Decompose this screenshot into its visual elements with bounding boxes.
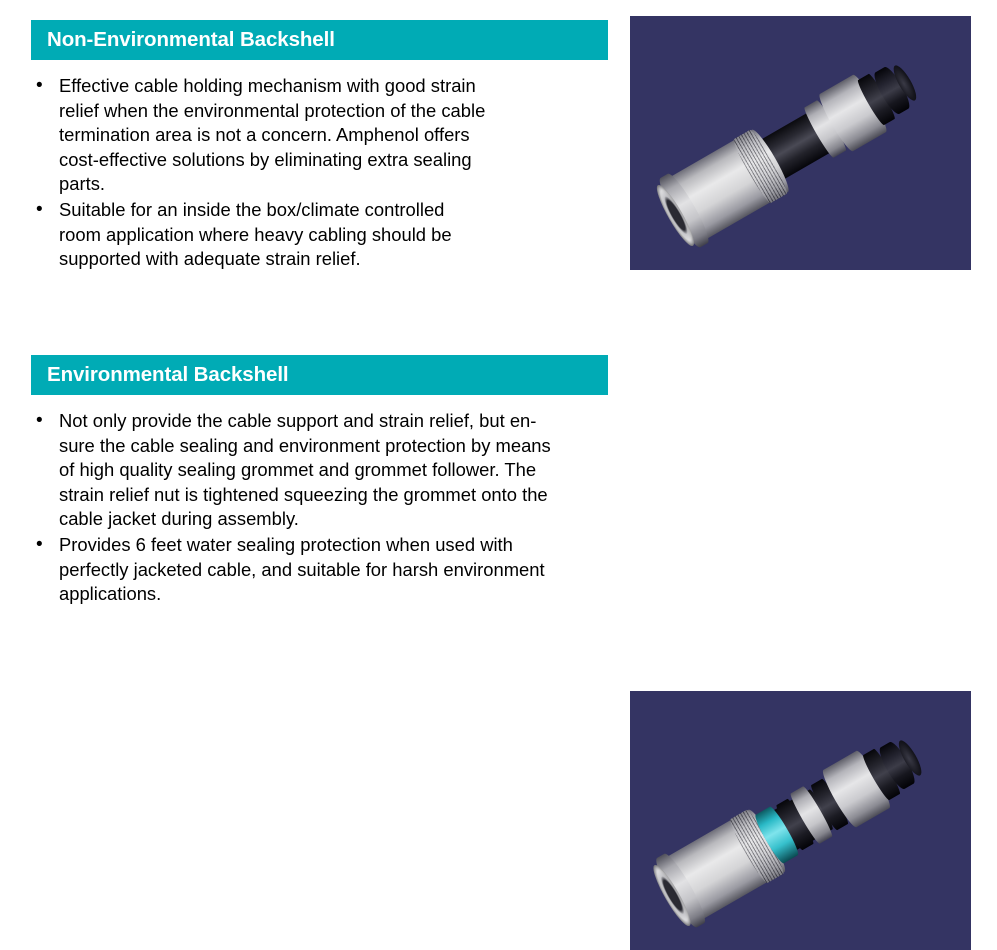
bullet-text: Not only provide the cable support and s…	[59, 409, 631, 532]
bullet-text: Suitable for an inside the box/climate c…	[59, 198, 631, 272]
product-feature-page: Non-Environmental Backshell • Effective …	[0, 0, 997, 652]
connector-assembly-illustration	[645, 700, 957, 940]
section-title-environmental: Environmental Backshell	[31, 365, 289, 386]
bullet-dot-icon: •	[36, 533, 50, 558]
bullet-dot-icon: •	[36, 198, 50, 223]
list-item: • Effective cable holding mechanism with…	[31, 74, 631, 197]
bullet-list-environmental: • Not only provide the cable support and…	[31, 409, 631, 608]
bullet-text: Effective cable holding mechanism with g…	[59, 74, 631, 197]
list-item: • Not only provide the cable support and…	[31, 409, 631, 532]
section-header-bar-non-environmental: Non-Environmental Backshell	[31, 20, 608, 60]
section-header-bar-environmental: Environmental Backshell	[31, 355, 608, 395]
bullet-list-non-environmental: • Effective cable holding mechanism with…	[31, 74, 631, 273]
list-item: • Suitable for an inside the box/climate…	[31, 198, 631, 272]
bullet-dot-icon: •	[36, 409, 50, 434]
section-title-non-environmental: Non-Environmental Backshell	[31, 30, 335, 51]
bullet-dot-icon: •	[36, 74, 50, 99]
bullet-text: Provides 6 feet water sealing protection…	[59, 533, 631, 607]
list-item: • Provides 6 feet water sealing protecti…	[31, 533, 631, 607]
non-environmental-backshell-photo	[630, 16, 971, 270]
connector-assembly-illustration	[645, 23, 957, 263]
environmental-backshell-photo	[630, 691, 971, 950]
